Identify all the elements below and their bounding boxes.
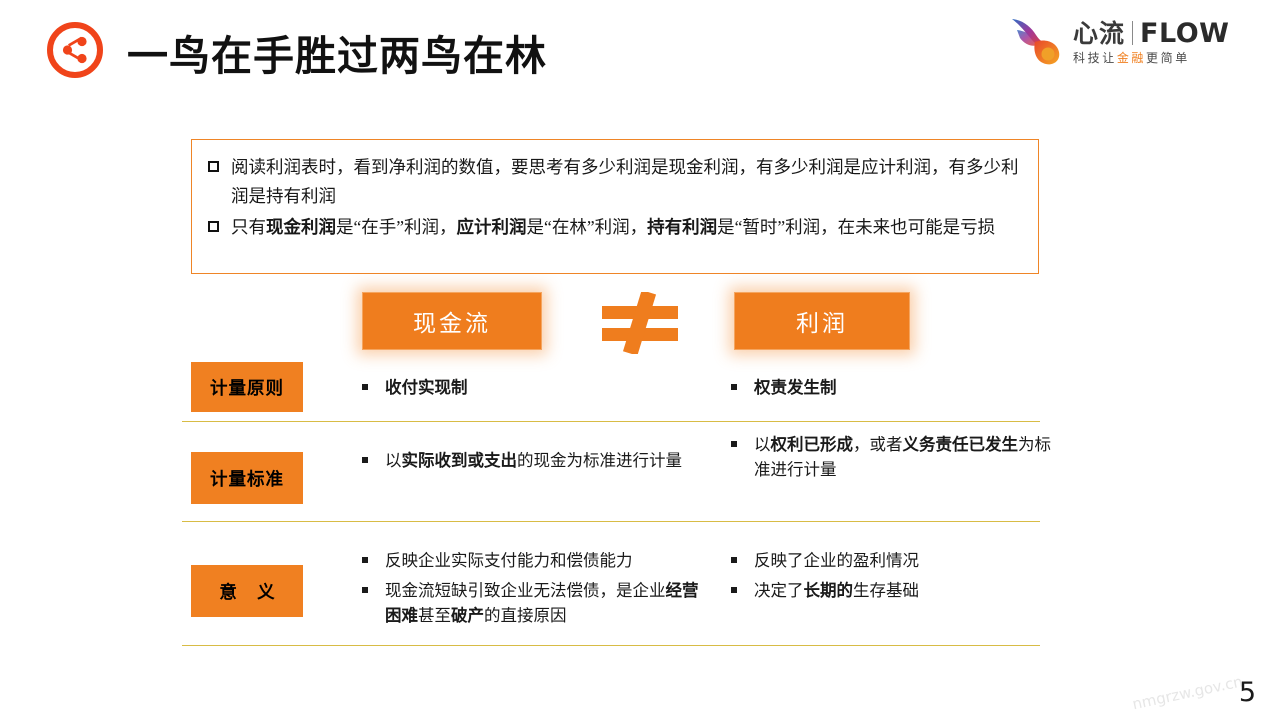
cell-profit-1: 权责发生制 bbox=[731, 375, 1051, 400]
flow-bird-mark-icon bbox=[1007, 13, 1067, 69]
square-bullet-icon bbox=[362, 557, 368, 563]
page-number: 5 bbox=[1239, 677, 1256, 708]
banner-profit: 利润 bbox=[734, 292, 910, 350]
callout-box: 阅读利润表时，看到净利润的数值，要思考有多少利润是现金利润，有多少利润是应计利润… bbox=[191, 139, 1039, 274]
logo-en-name: FLOW bbox=[1140, 20, 1229, 47]
callout-item: 只有现金利润是“在手”利润，应计利润是“在林”利润，持有利润是“暂时”利润，在未… bbox=[208, 213, 1022, 242]
list-item: 反映企业实际支付能力和偿债能力 bbox=[362, 548, 702, 573]
list-item-text: 反映企业实际支付能力和偿债能力 bbox=[385, 548, 702, 573]
plain-text: 现金流短缺引致企业无法偿债，是企业 bbox=[385, 581, 666, 600]
plain-text: 收付实现制 bbox=[385, 378, 468, 397]
list-item: 权责发生制 bbox=[731, 375, 1051, 400]
list-item-text: 收付实现制 bbox=[385, 375, 702, 400]
square-bullet-icon bbox=[362, 457, 368, 463]
plain-text: 的直接原因 bbox=[484, 606, 567, 625]
list-item: 现金流短缺引致企业无法偿债，是企业经营困难甚至破产的直接原因 bbox=[362, 578, 702, 628]
emphasis-text: 权利已形成 bbox=[771, 435, 854, 454]
emphasis-text: 持有利润 bbox=[647, 217, 717, 237]
list-item-text: 反映了企业的盈利情况 bbox=[754, 548, 1051, 573]
list-item: 以实际收到或支出的现金为标准进行计量 bbox=[362, 448, 702, 473]
logo-tagline-after: 更简单 bbox=[1146, 51, 1190, 65]
callout-item: 阅读利润表时，看到净利润的数值，要思考有多少利润是现金利润，有多少利润是应计利润… bbox=[208, 153, 1022, 211]
banner-cash-flow: 现金流 bbox=[362, 292, 542, 350]
row-label-1: 计量原则 bbox=[191, 362, 303, 412]
bullet-list: 收付实现制 bbox=[362, 375, 702, 400]
plain-text: 是“在林”利润， bbox=[527, 217, 648, 237]
emphasis-text: 长期的 bbox=[804, 581, 854, 600]
plain-text: 是“暂时”利润，在未来也可能是亏损 bbox=[717, 217, 995, 237]
list-item-text: 现金流短缺引致企业无法偿债，是企业经营困难甚至破产的直接原因 bbox=[385, 578, 702, 628]
cell-profit-3: 反映了企业的盈利情况决定了长期的生存基础 bbox=[731, 548, 1051, 603]
plain-text: 是“在手”利润， bbox=[336, 217, 457, 237]
hollow-square-bullet-icon bbox=[208, 161, 219, 172]
list-item-text: 权责发生制 bbox=[754, 375, 1051, 400]
row-divider-3 bbox=[182, 645, 1040, 646]
bullet-list: 反映企业实际支付能力和偿债能力现金流短缺引致企业无法偿债，是企业经营困难甚至破产… bbox=[362, 548, 702, 628]
emphasis-text: 义务责任已发生 bbox=[903, 435, 1019, 454]
plain-text: 阅读利润表时，看到净利润的数值，要思考有多少利润是现金利润，有多少利润是应计利润… bbox=[231, 157, 1019, 206]
list-item-text: 以实际收到或支出的现金为标准进行计量 bbox=[385, 448, 702, 473]
emphasis-text: 破产 bbox=[451, 606, 484, 625]
cell-profit-2: 以权利已形成，或者义务责任已发生为标准进行计量 bbox=[731, 432, 1051, 482]
plain-text: 反映企业实际支付能力和偿债能力 bbox=[385, 551, 633, 570]
plain-text: 生存基础 bbox=[853, 581, 919, 600]
plain-text: 的现金为标准进行计量 bbox=[517, 451, 682, 470]
plain-text: 决定了 bbox=[754, 581, 804, 600]
list-item-text: 以权利已形成，或者义务责任已发生为标准进行计量 bbox=[754, 432, 1051, 482]
square-bullet-icon bbox=[362, 384, 368, 390]
row-divider-2 bbox=[182, 521, 1040, 522]
list-item: 以权利已形成，或者义务责任已发生为标准进行计量 bbox=[731, 432, 1051, 482]
row-label-3: 意 义 bbox=[191, 565, 303, 617]
square-bullet-icon bbox=[362, 587, 368, 593]
logo-tagline: 科技让金融更简单 bbox=[1073, 52, 1229, 64]
cell-cash-2: 以实际收到或支出的现金为标准进行计量 bbox=[362, 448, 702, 473]
square-bullet-icon bbox=[731, 384, 737, 390]
brand-logo: 心流 FLOW 科技让金融更简单 bbox=[1007, 10, 1252, 72]
logo-divider bbox=[1132, 21, 1133, 45]
share-icon bbox=[46, 21, 104, 79]
emphasis-text: 现金利润 bbox=[266, 217, 336, 237]
square-bullet-icon bbox=[731, 587, 737, 593]
emphasis-text: 实际收到或支出 bbox=[402, 451, 518, 470]
plain-text: 反映了企业的盈利情况 bbox=[754, 551, 919, 570]
not-equal-icon bbox=[598, 292, 682, 354]
list-item: 收付实现制 bbox=[362, 375, 702, 400]
watermark: nmgrzw.gov.cn bbox=[1130, 672, 1244, 713]
row-divider-1 bbox=[182, 421, 1040, 422]
cell-cash-3: 反映企业实际支付能力和偿债能力现金流短缺引致企业无法偿债，是企业经营困难甚至破产… bbox=[362, 548, 702, 628]
logo-cn-name: 心流 bbox=[1073, 21, 1125, 46]
list-item: 反映了企业的盈利情况 bbox=[731, 548, 1051, 573]
callout-item-text: 阅读利润表时，看到净利润的数值，要思考有多少利润是现金利润，有多少利润是应计利润… bbox=[231, 153, 1022, 211]
bullet-list: 反映了企业的盈利情况决定了长期的生存基础 bbox=[731, 548, 1051, 603]
plain-text: 以 bbox=[754, 435, 771, 454]
bullet-list: 以实际收到或支出的现金为标准进行计量 bbox=[362, 448, 702, 473]
square-bullet-icon bbox=[731, 557, 737, 563]
logo-tagline-highlight: 金融 bbox=[1117, 51, 1146, 65]
list-item: 决定了长期的生存基础 bbox=[731, 578, 1051, 603]
plain-text: 甚至 bbox=[418, 606, 451, 625]
row-label-2: 计量标准 bbox=[191, 452, 303, 504]
plain-text: 权责发生制 bbox=[754, 378, 837, 397]
emphasis-text: 应计利润 bbox=[457, 217, 527, 237]
callout-item-text: 只有现金利润是“在手”利润，应计利润是“在林”利润，持有利润是“暂时”利润，在未… bbox=[231, 213, 1022, 242]
page-title: 一鸟在手胜过两鸟在林 bbox=[127, 22, 547, 82]
cell-cash-1: 收付实现制 bbox=[362, 375, 702, 400]
plain-text: 以 bbox=[385, 451, 402, 470]
plain-text: 只有 bbox=[231, 217, 266, 237]
hollow-square-bullet-icon bbox=[208, 221, 219, 232]
square-bullet-icon bbox=[731, 441, 737, 447]
list-item-text: 决定了长期的生存基础 bbox=[754, 578, 1051, 603]
logo-tagline-before: 科技让 bbox=[1073, 51, 1117, 65]
plain-text: ，或者 bbox=[853, 435, 903, 454]
bullet-list: 权责发生制 bbox=[731, 375, 1051, 400]
bullet-list: 以权利已形成，或者义务责任已发生为标准进行计量 bbox=[731, 432, 1051, 482]
